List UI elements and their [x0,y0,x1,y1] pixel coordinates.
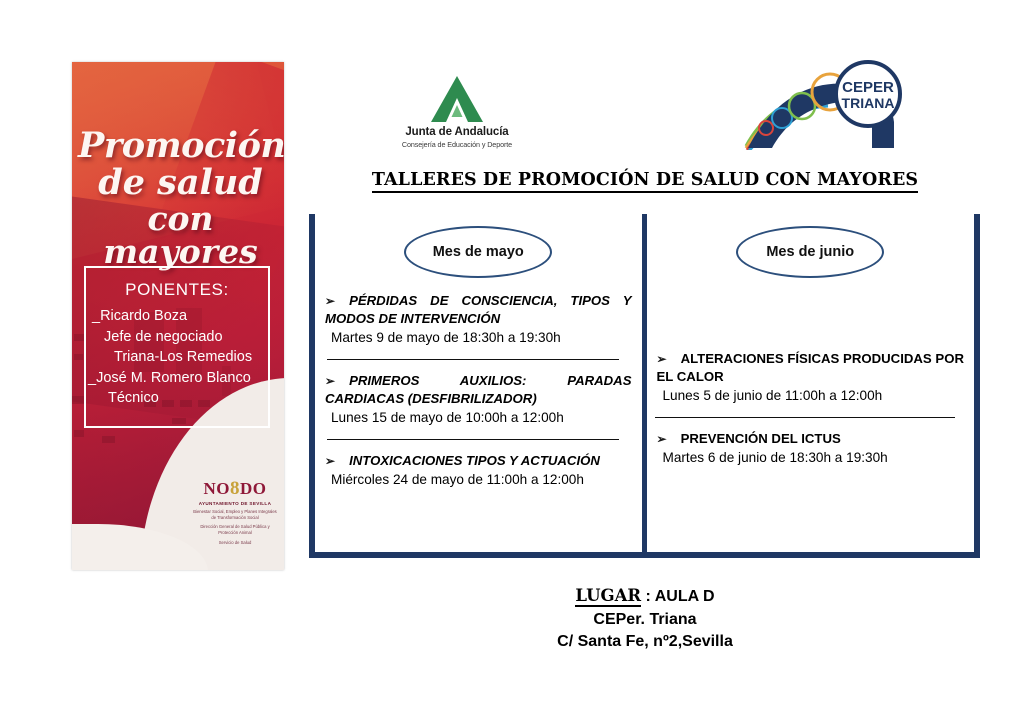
workshop-schedule: Lunes 15 de mayo de 10:00h a 12:00h [325,409,632,427]
nosdo-no: NO [204,479,231,498]
workshop-title: ➢ALTERACIONES FÍSICAS PRODUCIDAS POR EL … [657,350,965,386]
poster-speaker-role-1: Jefe de negociado [86,327,268,348]
bullet-arrow-icon: ➢ [325,454,349,468]
item-divider [655,417,955,418]
workshop-title-text: INTOXICACIONES TIPOS Y ACTUACIÓN [349,453,600,468]
nosdo-dept-line: Bienestar Social, Empleo y Planes Integr… [192,509,278,522]
workshop-title: ➢INTOXICACIONES TIPOS Y ACTUACIÓN [325,452,632,470]
schedule-column-mayo: Mes de mayo ➢PÉRDIDAS DE CONSCIENCIA, TI… [315,214,647,552]
workshop-schedule: Miércoles 24 de mayo de 11:00h a 12:00h [325,471,632,489]
item-divider [327,439,619,440]
workshop-title-text: PÉRDIDAS DE CONSCIENCIA, TIPOS Y MODOS D… [325,293,632,326]
ceper-triana-logo: CEPER TRIANA [744,58,910,150]
workshop-item: ➢PÉRDIDAS DE CONSCIENCIA, TIPOS Y MODOS … [321,292,636,347]
venue-line-1: LUGAR : AULA D [310,584,980,609]
bullet-arrow-icon: ➢ [657,352,681,366]
workshops-schedule-table: Mes de mayo ➢PÉRDIDAS DE CONSCIENCIA, TI… [309,214,980,558]
workshop-title-text: PREVENCIÓN DEL ICTUS [681,431,841,446]
venue-room: : AULA D [641,588,714,605]
junta-a-mark-icon [428,74,486,124]
workshop-title-text: ALTERACIONES FÍSICAS PRODUCIDAS POR EL C… [657,351,965,384]
junta-logo-subtitle: Consejería de Educación y Deporte [389,140,525,149]
workshop-title: ➢PREVENCIÓN DEL ICTUS [657,430,965,448]
nosdo-knot-icon: 8 [230,478,240,499]
nosdo-city-line: AYUNTAMIENTO DE SEVILLA [192,501,278,506]
promotion-poster-image: Promoción de salud con mayores PONENTES:… [72,62,284,570]
venue-line-3: C/ Santa Fe, nº2,Sevilla [310,631,980,654]
svg-text:TRIANA: TRIANA [842,95,895,111]
page-title-text: TALLERES DE PROMOCIÓN DE SALUD CON MAYOR… [372,170,918,193]
month-badge-mayo: Mes de mayo [404,226,552,278]
junta-de-andalucia-logo: Junta de Andalucía Consejería de Educaci… [389,74,525,149]
page-title: TALLERES DE PROMOCIÓN DE SALUD CON MAYOR… [310,170,980,190]
poster-speaker-role-2: Técnico [86,388,268,409]
workshop-item: ➢ALTERACIONES FÍSICAS PRODUCIDAS POR EL … [653,350,969,405]
junta-logo-name: Junta de Andalucía [389,126,525,138]
bullet-arrow-icon: ➢ [325,374,349,388]
workshop-title: ➢PÉRDIDAS DE CONSCIENCIA, TIPOS Y MODOS … [325,292,632,328]
nosdo-service-line: Servicio de Salud [192,540,278,546]
poster-speakers-heading: PONENTES: [86,280,268,300]
nosdo-wordmark: NO8DO [192,479,278,498]
poster-speaker-area-1: Triana-Los Remedios [86,347,268,368]
bullet-arrow-icon: ➢ [657,432,681,446]
nosdo-division-line: Dirección General de Salud Pública y Pro… [192,524,278,537]
workshop-schedule: Martes 6 de junio de 18:30h a 19:30h [657,449,965,467]
poster-speaker-name-1: _Ricardo Boza [86,306,268,327]
workshop-title-text: PRIMEROS AUXILIOS: PARADAS CARDIACAS (DE… [325,373,632,406]
workshop-schedule: Martes 9 de mayo de 18:30h a 19:30h [325,329,632,347]
bullet-arrow-icon: ➢ [325,294,349,308]
poster-speaker-name-2: _José M. Romero Blanco [86,368,268,389]
workshop-item: ➢INTOXICACIONES TIPOS Y ACTUACIÓN Miérco… [321,452,636,489]
venue-footer: LUGAR : AULA D CEPer. Triana C/ Santa Fe… [310,584,980,654]
month-badge-junio: Mes de junio [736,226,884,278]
venue-label: LUGAR [575,586,641,607]
workshop-title: ➢PRIMEROS AUXILIOS: PARADAS CARDIACAS (D… [325,372,632,408]
schedule-column-junio: Mes de junio ➢ALTERACIONES FÍSICAS PRODU… [647,214,975,552]
workshop-schedule: Lunes 5 de junio de 11:00h a 12:00h [657,387,965,405]
poster-speakers-box: PONENTES: _Ricardo Boza Jefe de negociad… [84,266,270,428]
ceper-triana-mark-icon: CEPER TRIANA [744,58,910,150]
item-divider [327,359,619,360]
workshop-item: ➢PREVENCIÓN DEL ICTUS Martes 6 de junio … [653,430,969,467]
nosdo-logo: NO8DO AYUNTAMIENTO DE SEVILLA Bienestar … [192,479,278,546]
nosdo-do: DO [240,479,267,498]
svg-text:CEPER: CEPER [842,79,894,96]
venue-line-2: CEPer. Triana [310,609,980,632]
workshop-item: ➢PRIMEROS AUXILIOS: PARADAS CARDIACAS (D… [321,372,636,427]
